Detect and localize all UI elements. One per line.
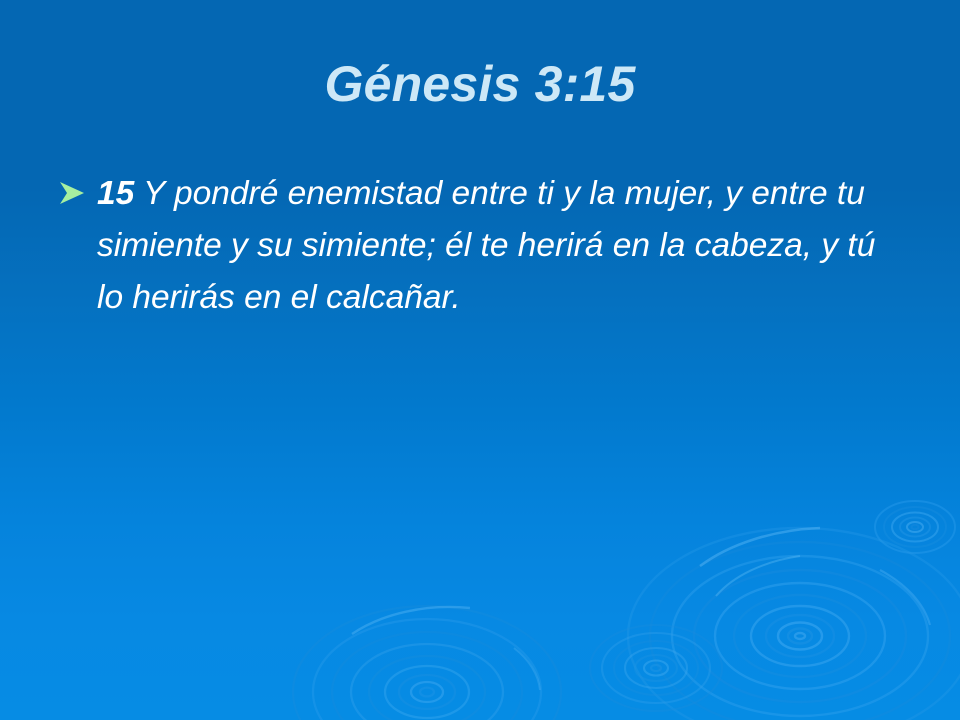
slide-title: Génesis 3:15: [0, 56, 960, 112]
ripple-small-upper-right: [875, 501, 955, 553]
list-item: 15 Y pondré enemistad entre ti y la muje…: [56, 168, 908, 324]
slide-body: 15 Y pondré enemistad entre ti y la muje…: [56, 168, 908, 324]
ripple-medium-bottom-left: [293, 606, 561, 720]
slide-canvas: Génesis 3:15 15 Y pondré enemistad entre…: [0, 0, 960, 720]
verse-number: 15: [97, 175, 134, 212]
verse-text: 15 Y pondré enemistad entre ti y la muje…: [97, 168, 908, 324]
verse-body: Y pondré enemistad entre ti y la mujer, …: [97, 175, 875, 316]
arrowhead-bullet-icon: [58, 181, 86, 205]
ripple-small-bottom-center: [590, 625, 722, 711]
ripple-large-lower-right: [628, 528, 960, 720]
